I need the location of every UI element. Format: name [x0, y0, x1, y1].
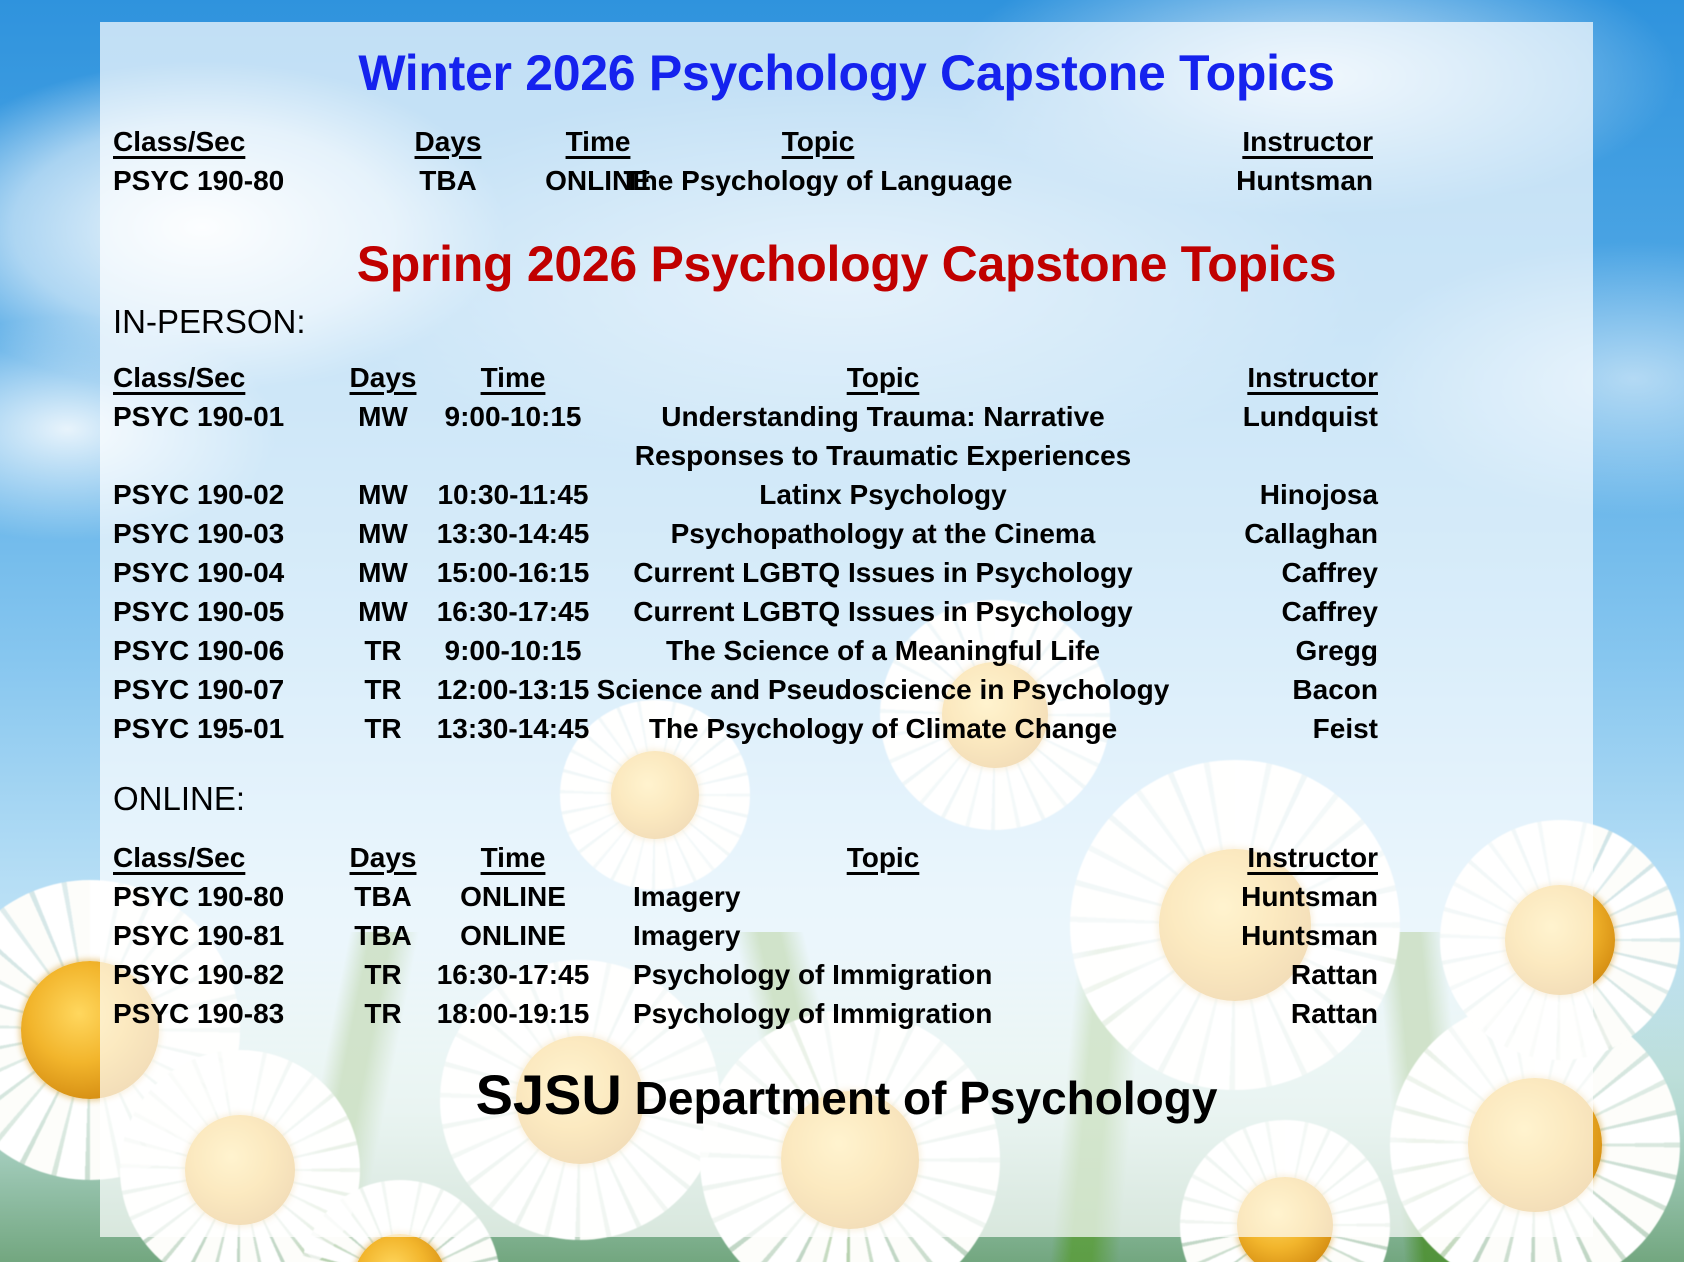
cell-class-sec: PSYC 190-06 — [113, 635, 284, 667]
table-row: PSYC 190-03 MW 13:30-14:45 Psychopatholo… — [113, 518, 1513, 557]
cell-class-sec: PSYC 190-04 — [113, 557, 284, 589]
header-instructor: Instructor — [1168, 842, 1378, 874]
cell-topic: The Psychology of Climate Change — [583, 713, 1183, 745]
cell-time: ONLINE — [413, 881, 613, 913]
cell-instructor: Rattan — [1168, 959, 1378, 991]
footer-brand: SJSU — [476, 1063, 622, 1126]
cell-instructor: Bacon — [1168, 674, 1378, 706]
cell-class-sec: PSYC 195-01 — [113, 713, 284, 745]
cell-topic: Imagery — [633, 881, 1253, 913]
header-topic: Topic — [583, 842, 1183, 874]
cell-instructor: Feist — [1168, 713, 1378, 745]
cell-topic: Current LGBTQ Issues in Psychology — [583, 596, 1183, 628]
poster-background: Winter 2026 Psychology Capstone Topics C… — [0, 0, 1684, 1262]
cell-class-sec: PSYC 190-82 — [113, 959, 284, 991]
header-class-sec: Class/Sec — [113, 362, 245, 394]
header-class-sec: Class/Sec — [113, 842, 245, 874]
cell-instructor: Rattan — [1168, 998, 1378, 1030]
cell-class-sec: PSYC 190-80 — [113, 165, 284, 197]
table-row: PSYC 195-01 TR 13:30-14:45 The Psycholog… — [113, 713, 1513, 752]
cell-topic: Imagery — [633, 920, 1253, 952]
table-row: PSYC 190-82 TR 16:30-17:45 Psychology of… — [113, 959, 1513, 998]
header-topic: Topic — [583, 362, 1183, 394]
table-row: PSYC 190-07 TR 12:00-13:15 Science and P… — [113, 674, 1513, 713]
footer-department: SJSU Department of Psychology — [100, 1062, 1593, 1127]
cell-instructor: Callaghan — [1168, 518, 1378, 550]
winter-table: Class/Sec Days Time Topic Instructor PSY… — [113, 126, 1513, 204]
cell-class-sec: PSYC 190-03 — [113, 518, 284, 550]
cell-topic-line2: Responses to Traumatic Experiences — [583, 440, 1183, 472]
online-table-header: Class/Sec Days Time Topic Instructor — [113, 842, 1513, 881]
cell-topic: Psychology of Immigration — [633, 959, 1253, 991]
cell-instructor: Gregg — [1168, 635, 1378, 667]
table-row: PSYC 190-83 TR 18:00-19:15 Psychology of… — [113, 998, 1513, 1037]
table-row: PSYC 190-81 TBA ONLINE Imagery Huntsman — [113, 920, 1513, 959]
in-person-label: IN-PERSON: — [113, 303, 306, 341]
cell-class-sec: PSYC 190-05 — [113, 596, 284, 628]
cell-topic: Latinx Psychology — [583, 479, 1183, 511]
table-row: PSYC 190-04 MW 15:00-16:15 Current LGBTQ… — [113, 557, 1513, 596]
table-row: PSYC 190-06 TR 9:00-10:15 The Science of… — [113, 635, 1513, 674]
cell-instructor: Huntsman — [1163, 165, 1373, 197]
cell-instructor: Lundquist — [1168, 401, 1378, 433]
cell-topic: The Science of a Meaningful Life — [583, 635, 1183, 667]
header-topic: Topic — [538, 126, 1098, 158]
cell-topic: Psychopathology at the Cinema — [583, 518, 1183, 550]
cell-instructor: Huntsman — [1168, 920, 1378, 952]
header-days: Days — [388, 126, 508, 158]
spring-title: Spring 2026 Psychology Capstone Topics — [100, 235, 1593, 293]
winter-table-header: Class/Sec Days Time Topic Instructor — [113, 126, 1513, 165]
header-instructor: Instructor — [1168, 362, 1378, 394]
cell-topic: Psychology of Immigration — [633, 998, 1253, 1030]
table-row-continuation: Responses to Traumatic Experiences — [113, 440, 1513, 479]
table-row: PSYC 190-80 TBA ONLINE The Psychology of… — [113, 165, 1513, 204]
footer-text: Department of Psychology — [622, 1072, 1218, 1124]
header-instructor: Instructor — [1163, 126, 1373, 158]
content-panel: Winter 2026 Psychology Capstone Topics C… — [100, 22, 1593, 1237]
cell-class-sec: PSYC 190-07 — [113, 674, 284, 706]
cell-instructor: Caffrey — [1168, 596, 1378, 628]
online-table: Class/Sec Days Time Topic Instructor PSY… — [113, 842, 1513, 1037]
cell-instructor: Hinojosa — [1168, 479, 1378, 511]
cell-class-sec: PSYC 190-80 — [113, 881, 284, 913]
cell-days: TBA — [388, 165, 508, 197]
cell-time: 16:30-17:45 — [413, 959, 613, 991]
cell-time: ONLINE — [413, 920, 613, 952]
header-class-sec: Class/Sec — [113, 126, 245, 158]
online-label: ONLINE: — [113, 780, 245, 818]
cell-time: 18:00-19:15 — [413, 998, 613, 1030]
cell-class-sec: PSYC 190-02 — [113, 479, 284, 511]
table-row: PSYC 190-05 MW 16:30-17:45 Current LGBTQ… — [113, 596, 1513, 635]
cell-topic: Science and Pseudoscience in Psychology — [583, 674, 1183, 706]
in-person-table-header: Class/Sec Days Time Topic Instructor — [113, 362, 1513, 401]
cell-topic: Understanding Trauma: Narrative — [583, 401, 1183, 433]
cell-instructor: Huntsman — [1168, 881, 1378, 913]
table-row: PSYC 190-02 MW 10:30-11:45 Latinx Psycho… — [113, 479, 1513, 518]
table-row: PSYC 190-01 MW 9:00-10:15 Understanding … — [113, 401, 1513, 440]
cell-instructor: Caffrey — [1168, 557, 1378, 589]
cell-class-sec: PSYC 190-81 — [113, 920, 284, 952]
winter-title: Winter 2026 Psychology Capstone Topics — [100, 44, 1593, 102]
in-person-table: Class/Sec Days Time Topic Instructor PSY… — [113, 362, 1513, 752]
cell-class-sec: PSYC 190-01 — [113, 401, 284, 433]
cell-topic: The Psychology of Language — [538, 165, 1098, 197]
table-row: PSYC 190-80 TBA ONLINE Imagery Huntsman — [113, 881, 1513, 920]
cell-topic: Current LGBTQ Issues in Psychology — [583, 557, 1183, 589]
cell-class-sec: PSYC 190-83 — [113, 998, 284, 1030]
